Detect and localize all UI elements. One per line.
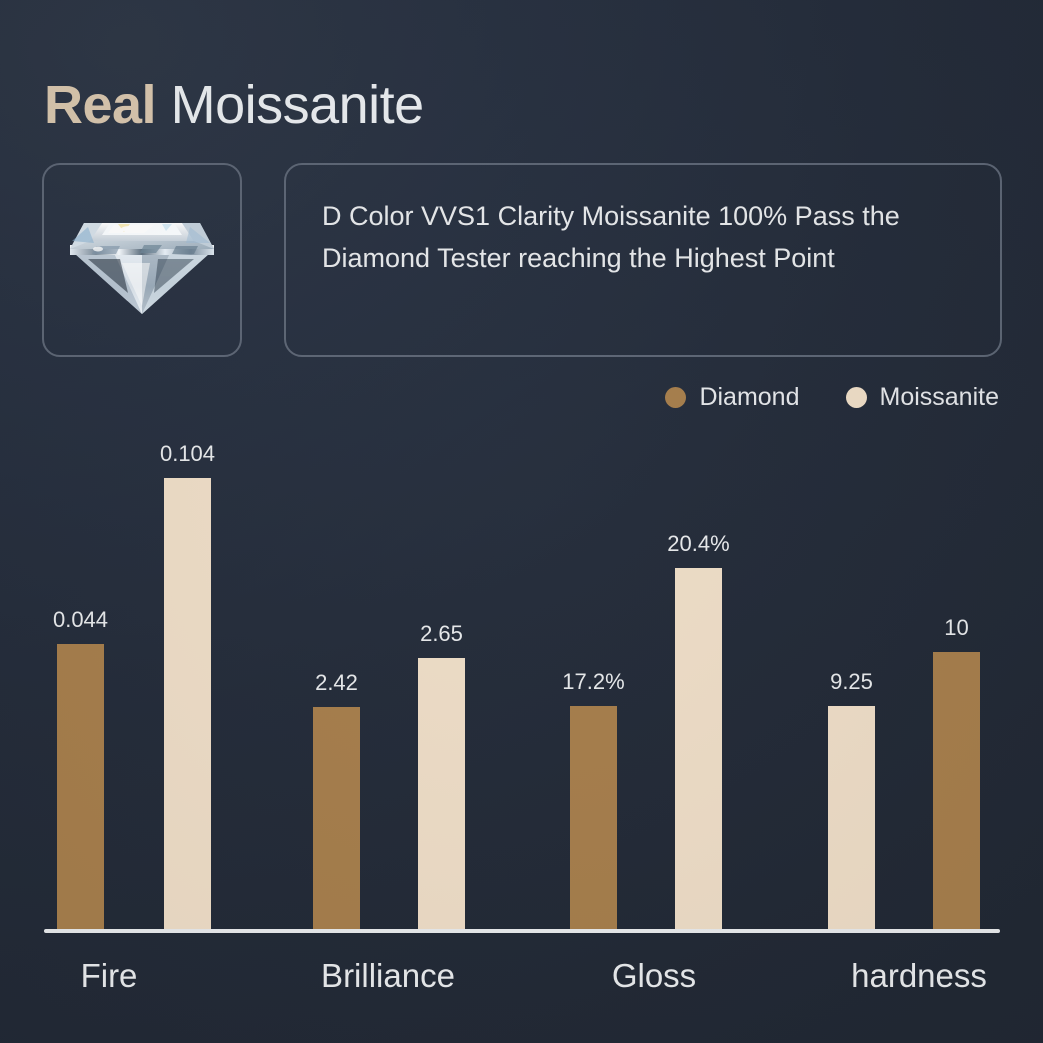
category-label-hardness: hardness	[851, 952, 987, 1000]
category-label-fire: Fire	[81, 952, 138, 1000]
chart-plot-area: 0.0440.1042.422.6517.2%20.4%9.2510	[44, 420, 1000, 932]
poster-root: Real Moissanite	[0, 0, 1043, 1043]
bar-hardness-diamond[interactable]: 10	[933, 652, 980, 932]
bar-hardness-moissanite[interactable]: 9.25	[828, 706, 875, 932]
bar-value-label: 2.65	[420, 623, 463, 645]
bar-fill	[57, 644, 104, 932]
bar-fill	[313, 707, 360, 932]
bar-value-label: 17.2%	[562, 671, 624, 693]
bar-value-label: 0.104	[160, 443, 215, 465]
bar-value-label: 20.4%	[667, 533, 729, 555]
bar-chart: 0.0440.1042.422.6517.2%20.4%9.2510 FireB…	[0, 0, 1043, 1043]
bar-fill	[418, 658, 465, 932]
chart-axis-line	[44, 929, 1000, 933]
bar-value-label: 10	[944, 617, 968, 639]
bar-fill	[675, 568, 722, 932]
category-label-gloss: Gloss	[612, 952, 696, 1000]
bar-fill	[570, 706, 617, 932]
bar-fill	[933, 652, 980, 932]
bar-fire-diamond[interactable]: 0.044	[57, 644, 104, 932]
bar-fill	[828, 706, 875, 932]
bar-brilliance-diamond[interactable]: 2.42	[313, 707, 360, 932]
bar-gloss-diamond[interactable]: 17.2%	[570, 706, 617, 932]
bar-value-label: 2.42	[315, 672, 358, 694]
category-label-brilliance: Brilliance	[321, 952, 455, 1000]
bar-fire-moissanite[interactable]: 0.104	[164, 478, 211, 932]
bar-value-label: 0.044	[53, 609, 108, 631]
bar-brilliance-moissanite[interactable]: 2.65	[418, 658, 465, 932]
bar-fill	[164, 478, 211, 932]
chart-category-labels: FireBrillianceGlosshardness	[44, 952, 1000, 1012]
bar-value-label: 9.25	[830, 671, 873, 693]
bar-gloss-moissanite[interactable]: 20.4%	[675, 568, 722, 932]
